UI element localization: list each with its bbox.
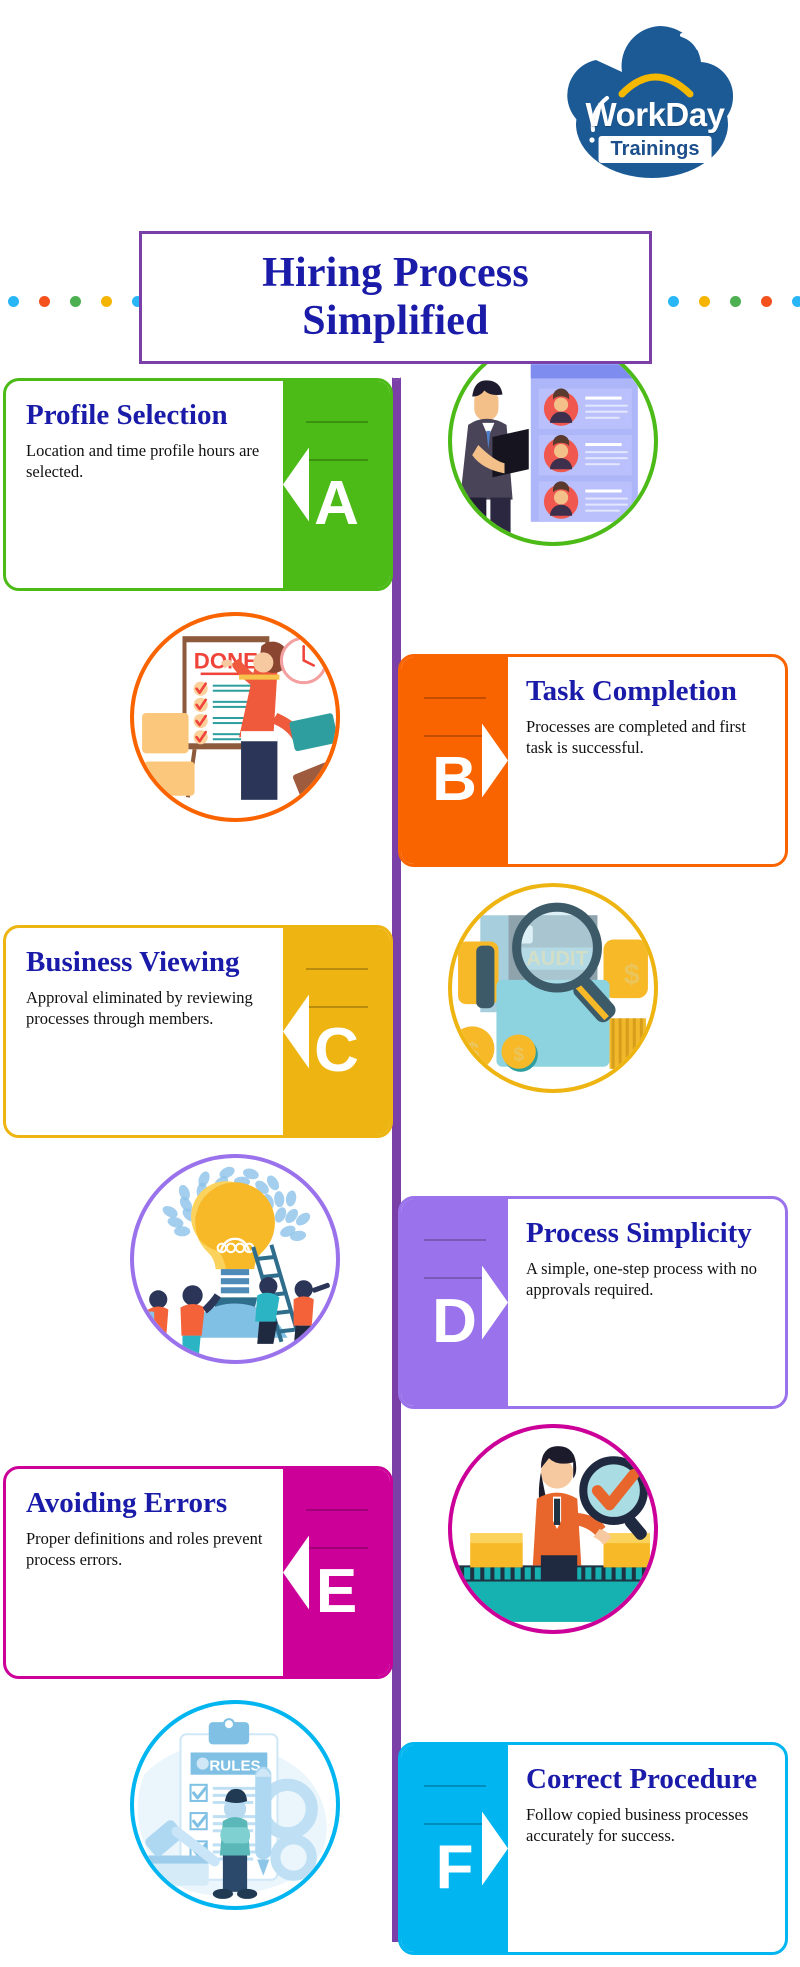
card-title-b: Task Completion bbox=[526, 673, 767, 710]
illustration-quality-inspection-conveyor-belt bbox=[448, 1424, 658, 1634]
card-notch-icon bbox=[283, 995, 309, 1069]
card-step-letter: B bbox=[432, 749, 477, 811]
card-letter-panel-e: E bbox=[283, 1469, 390, 1676]
card-body-a: Profile SelectionLocation and time profi… bbox=[6, 381, 283, 588]
decorative-dot-3 bbox=[101, 296, 112, 307]
timeline-card-c[interactable]: Business ViewingApproval eliminated by r… bbox=[3, 925, 393, 1138]
timeline-card-e[interactable]: Avoiding ErrorsProper definitions and ro… bbox=[3, 1466, 393, 1679]
card-letter-panel-c: C bbox=[283, 928, 390, 1135]
decorative-dot-4 bbox=[761, 296, 772, 307]
decorative-dot-3 bbox=[730, 296, 741, 307]
decorative-rule-b bbox=[306, 1006, 368, 1008]
decorative-rule-a bbox=[424, 1785, 486, 1787]
card-body-b: Task CompletionProcesses are completed a… bbox=[508, 657, 785, 864]
card-title-f: Correct Procedure bbox=[526, 1761, 767, 1798]
page-title-line1: Hiring Process bbox=[262, 250, 529, 296]
card-step-letter: A bbox=[314, 473, 359, 535]
card-letter-panel-b: B bbox=[401, 657, 508, 864]
illustration-idea-lightbulb-with-team-and-ladder bbox=[130, 1154, 340, 1364]
decorative-rule-b bbox=[424, 735, 486, 737]
card-body-d: Process SimplicityA simple, one-step pro… bbox=[508, 1199, 785, 1406]
timeline-card-b[interactable]: Task CompletionProcesses are completed a… bbox=[398, 654, 788, 867]
card-title-a: Profile Selection bbox=[26, 397, 265, 434]
page-title: Hiring Process Simplified bbox=[262, 250, 529, 344]
decorative-rule-b bbox=[306, 1547, 368, 1549]
decorative-rule-b bbox=[424, 1823, 486, 1825]
illustration-recruiter-reviewing-candidate-profiles bbox=[448, 336, 658, 546]
card-title-e: Avoiding Errors bbox=[26, 1485, 265, 1522]
decorative-dot-1 bbox=[39, 296, 50, 307]
card-description-c: Approval eliminated by reviewing process… bbox=[26, 987, 265, 1029]
infographic-canvas: WorkDay Trainings Hiring Process Simplif… bbox=[0, 0, 800, 1967]
card-description-e: Proper definitions and roles prevent pro… bbox=[26, 1528, 265, 1570]
card-notch-icon bbox=[482, 1266, 508, 1340]
svg-text:$: $ bbox=[624, 958, 640, 990]
decorative-rule-b bbox=[306, 459, 368, 461]
card-title-d: Process Simplicity bbox=[526, 1215, 767, 1252]
card-description-b: Processes are completed and first task i… bbox=[526, 716, 767, 758]
card-body-c: Business ViewingApproval eliminated by r… bbox=[6, 928, 283, 1135]
timeline-card-f[interactable]: Correct ProcedureFollow copied business … bbox=[398, 1742, 788, 1955]
decorative-dot-0 bbox=[8, 296, 19, 307]
decorative-rule-a bbox=[306, 1509, 368, 1511]
card-letter-panel-d: D bbox=[401, 1199, 508, 1406]
illustration-done-checklist-board: DONE bbox=[130, 612, 340, 822]
page-title-line2: Simplified bbox=[302, 298, 488, 344]
svg-text:RULES: RULES bbox=[209, 1758, 260, 1775]
card-description-a: Location and time profile hours are sele… bbox=[26, 440, 265, 482]
decorative-rule-a bbox=[424, 697, 486, 699]
workday-trainings-logo: WorkDay Trainings bbox=[560, 10, 750, 190]
decorative-dot-1 bbox=[668, 296, 679, 307]
card-notch-icon bbox=[283, 448, 309, 522]
card-notch-icon bbox=[482, 1812, 508, 1886]
decorative-rule-b bbox=[424, 1277, 486, 1279]
card-title-c: Business Viewing bbox=[26, 944, 265, 981]
timeline-card-a[interactable]: Profile SelectionLocation and time profi… bbox=[3, 378, 393, 591]
timeline-card-d[interactable]: Process SimplicityA simple, one-step pro… bbox=[398, 1196, 788, 1409]
card-letter-panel-f: F bbox=[401, 1745, 508, 1952]
decorative-rule-a bbox=[424, 1239, 486, 1241]
svg-text:$: $ bbox=[465, 1037, 480, 1067]
decorative-dots-right bbox=[637, 296, 800, 307]
illustration-rules-clipboard-with-gavel: RULES bbox=[130, 1700, 340, 1910]
card-step-letter: D bbox=[432, 1291, 477, 1353]
decorative-dot-5 bbox=[792, 296, 800, 307]
svg-text:$: $ bbox=[513, 1045, 524, 1066]
decorative-dot-2 bbox=[699, 296, 710, 307]
card-notch-icon bbox=[283, 1536, 309, 1610]
decorative-rule-a bbox=[306, 968, 368, 970]
card-notch-icon bbox=[482, 724, 508, 798]
timeline-spine bbox=[392, 362, 401, 1942]
decorative-dot-2 bbox=[70, 296, 81, 307]
logo-subtitle: Trainings bbox=[599, 136, 712, 163]
logo-wordmark: WorkDay bbox=[560, 96, 750, 134]
page-title-banner: Hiring Process Simplified bbox=[139, 231, 652, 364]
card-body-e: Avoiding ErrorsProper definitions and ro… bbox=[6, 1469, 283, 1676]
card-letter-panel-a: A bbox=[283, 381, 390, 588]
card-step-letter: F bbox=[436, 1837, 474, 1899]
decorative-rule-a bbox=[306, 421, 368, 423]
card-description-d: A simple, one-step process with no appro… bbox=[526, 1258, 767, 1300]
card-body-f: Correct ProcedureFollow copied business … bbox=[508, 1745, 785, 1952]
card-step-letter: C bbox=[314, 1020, 359, 1082]
illustration-audit-magnifier-with-coins: AUDIT $ $ $ bbox=[448, 883, 658, 1093]
card-step-letter: E bbox=[316, 1561, 357, 1623]
card-description-f: Follow copied business processes accurat… bbox=[526, 1804, 767, 1846]
